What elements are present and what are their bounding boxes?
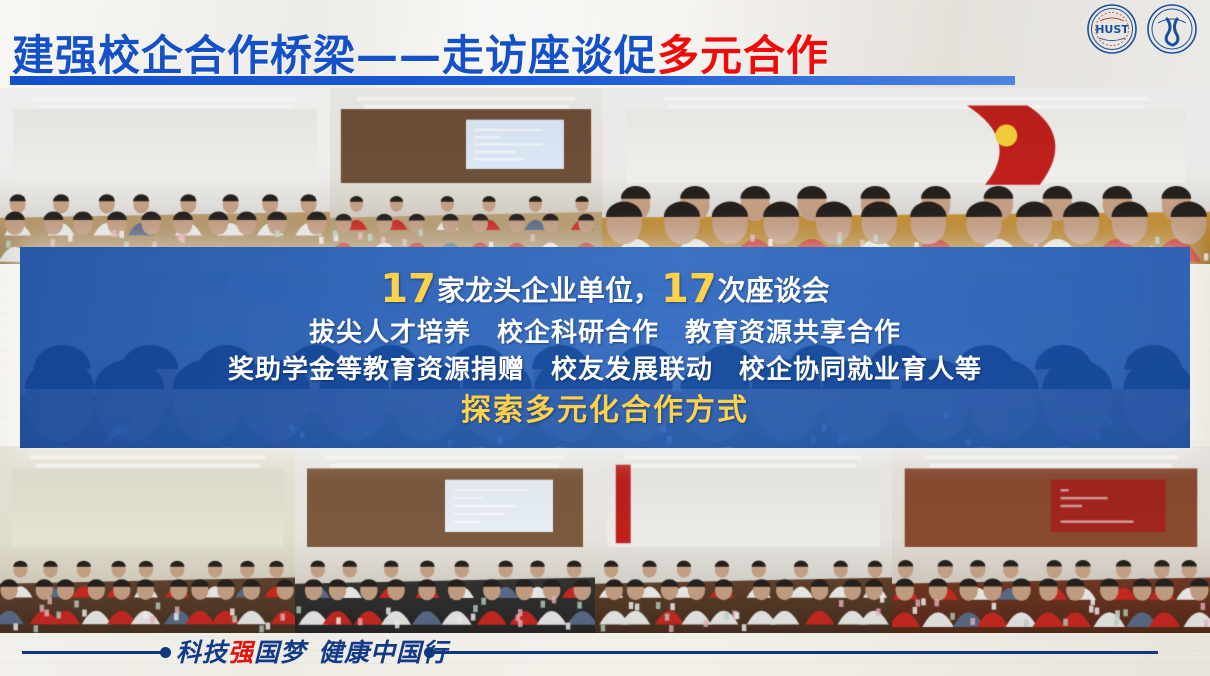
photo-row-bottom [0, 446, 1210, 633]
footer-slogan-accent: 强 [228, 638, 254, 667]
footer-rule-right [432, 651, 1158, 654]
footer-slogan-a: 科技 [176, 638, 228, 667]
summary-banner: 17家龙头企业单位，17次座谈会 拔尖人才培养校企科研合作教育资源共享合作 奖助… [20, 247, 1190, 448]
banner-count-enterprises: 17 [380, 266, 436, 312]
banner-line1-text-a: 家龙头企业单位， [437, 274, 661, 307]
slide-footer: 科技强国梦健康中国行 [0, 628, 1210, 676]
photo-meeting-red-uniform-presentation [330, 88, 602, 264]
photo-row-top [0, 88, 1210, 264]
banner-line-3: 奖助学金等教育资源捐赠校友发展联动校企协同就业育人等 [228, 357, 982, 384]
svg-text:HUST: HUST [1095, 23, 1129, 36]
page-title-accent: 多元合作 [657, 31, 829, 80]
hust-seal-icon: HUST [1086, 3, 1138, 55]
slide-root: 建强校企合作桥梁——走访座谈促多元合作 HUST [0, 0, 1210, 676]
footer-slogan: 科技强国梦健康中国行 [176, 633, 426, 669]
banner-count-symposiums: 17 [661, 266, 717, 312]
banner-item-employment-education: 校企协同就业育人等 [739, 355, 982, 385]
photo-meeting-party-emblem-hall [602, 88, 1210, 264]
page-title: 建强校企合作桥梁——走访座谈促多元合作 [12, 22, 829, 83]
banner-line-4-highlight: 探索多元化合作方式 [461, 395, 749, 427]
title-underline-bar [10, 76, 1015, 85]
banner-line-1: 17家龙头企业单位，17次座谈会 [380, 268, 829, 310]
banner-line-2: 拔尖人才培养校企科研合作教育资源共享合作 [309, 320, 901, 347]
photo-flag-room-applause [595, 446, 892, 633]
banner-item-research-cooperation: 校企科研合作 [497, 318, 659, 348]
banner-item-resource-sharing: 教育资源共享合作 [685, 318, 901, 348]
photo-meeting-white-wall-plants [0, 88, 330, 264]
banner-item-scholarship-donation: 奖助学金等教育资源捐赠 [228, 355, 525, 385]
photo-red-screen-conference [892, 446, 1210, 633]
banner-text-block: 17家龙头企业单位，17次座谈会 拔尖人才培养校企科研合作教育资源共享合作 奖助… [20, 247, 1190, 448]
banner-item-talent-training: 拔尖人才培养 [309, 318, 471, 348]
slide-header: 建强校企合作桥梁——走访座谈促多元合作 HUST [0, 0, 1210, 92]
union-hospital-seal-icon [1146, 3, 1198, 55]
footer-rule-left [22, 651, 164, 654]
banner-line1-text-b: 次座谈会 [718, 274, 830, 307]
photo-projector-screen-meeting [295, 446, 595, 633]
photo-long-table-discussion [0, 446, 295, 633]
footer-slogan-b: 国梦 [254, 638, 306, 667]
banner-item-alumni-development: 校友发展联动 [551, 355, 713, 385]
footer-dot-left [160, 647, 171, 658]
page-title-main: 建强校企合作桥梁——走访座谈促 [12, 31, 657, 80]
logo-group: HUST [1086, 3, 1198, 55]
